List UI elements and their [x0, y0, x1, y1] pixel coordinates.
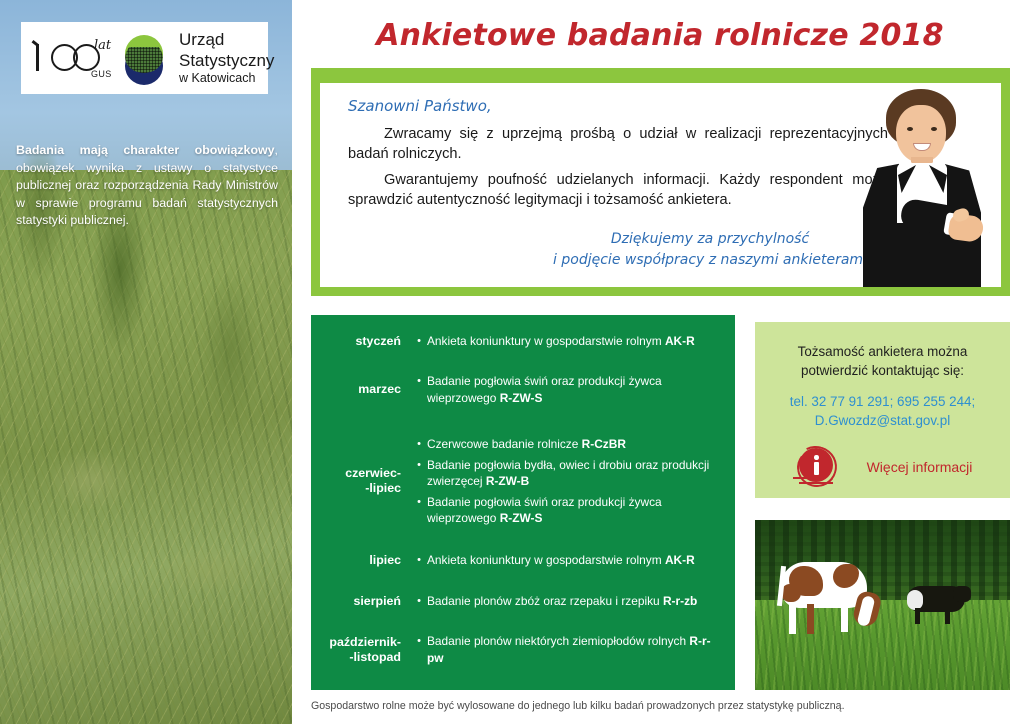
- letter-closing: Dziękujemy za przychylność i podjęcie ws…: [530, 229, 890, 271]
- list-item: • Czerwcowe badanie rolnicze R-CzBR: [411, 436, 727, 452]
- page-title: Ankietowe badania rolnicze 2018: [310, 18, 1010, 53]
- office-line-2: w Katowicach: [179, 71, 274, 87]
- schedule-item-text: Badanie plonów niektórych ziemiopłodów r…: [427, 633, 727, 666]
- survey-code: R-CzBR: [582, 437, 626, 451]
- bullet-icon: •: [411, 373, 427, 406]
- letter-box: Szanowni Państwo, Zwracamy się z uprzejm…: [311, 74, 1010, 296]
- schedule-item-text: Badanie plonów zbóż oraz rzepaku i rzepi…: [427, 593, 697, 609]
- table-row: sierpień • Badanie plonów zbóż oraz rzep…: [315, 589, 727, 613]
- bullet-icon: •: [411, 333, 427, 349]
- bullet-icon: •: [411, 552, 427, 568]
- schedule-items: • Ankieta koniunktury w gospodarstwie ro…: [411, 548, 727, 572]
- survey-schedule-table: styczeń • Ankieta koniunktury w gospodar…: [311, 315, 735, 690]
- list-item: • Badanie pogłowia świń oraz produkcji ż…: [411, 494, 727, 527]
- bullet-icon: •: [411, 494, 427, 527]
- mandatory-notice-bold: Badania mają charakter obowiązkowy: [16, 143, 275, 157]
- surveyor-photo: [841, 83, 1001, 287]
- contact-email[interactable]: D.Gwozdz@stat.gov.pl: [769, 411, 996, 430]
- schedule-item-text: Ankieta koniunktury w gospodarstwie roln…: [427, 333, 695, 349]
- schedule-month-line-2: -lipiec: [315, 481, 401, 496]
- contact-title-line-1: Tożsamość ankietera można: [769, 342, 996, 361]
- schedule-month: lipiec: [315, 553, 411, 568]
- logo-gus-label: GUS: [91, 69, 112, 79]
- poster-root: lat GUS Urząd Statystyczny w Katowicach …: [0, 0, 1024, 724]
- logo-lat-label: lat: [94, 38, 111, 53]
- schedule-item-text: Badanie pogłowia świń oraz produkcji żyw…: [427, 373, 727, 406]
- schedule-month-line-1: październik-: [315, 635, 401, 650]
- letter-closing-line-1: Dziękujemy za przychylność: [530, 229, 890, 250]
- schedule-item-text: Badanie pogłowia bydła, owiec i drobiu o…: [427, 457, 727, 490]
- mandatory-notice: Badania mają charakter obowiązkowy, obow…: [16, 142, 278, 230]
- survey-code: R-ZW-S: [500, 511, 543, 525]
- table-row: marzec • Badanie pogłowia świń oraz prod…: [315, 369, 727, 410]
- schedule-item-text: Badanie pogłowia świń oraz produkcji żyw…: [427, 494, 727, 527]
- cow-pasture-photo: [755, 520, 1010, 690]
- schedule-item-text: Ankieta koniunktury w gospodarstwie roln…: [427, 552, 695, 568]
- bullet-icon: •: [411, 457, 427, 490]
- letter-paragraph-1: Zwracamy się z uprzejmą prośbą o udział …: [348, 125, 888, 164]
- sidebar-wheat-panel: lat GUS Urząd Statystyczny w Katowicach …: [0, 0, 292, 724]
- survey-code: AK-R: [665, 334, 695, 348]
- schedule-month-line-2: -listopad: [315, 650, 401, 665]
- bullet-icon: •: [411, 593, 427, 609]
- list-item: • Ankieta koniunktury w gospodarstwie ro…: [411, 333, 727, 349]
- letter-closing-line-2: i podjęcie współpracy z naszymi ankieter…: [530, 250, 890, 271]
- schedule-items: • Badanie plonów niektórych ziemiopłodów…: [411, 629, 727, 670]
- survey-code: R-r-zb: [663, 594, 697, 608]
- schedule-month: październik- -listopad: [315, 635, 411, 665]
- bullet-icon: •: [411, 633, 427, 666]
- table-row: styczeń • Ankieta koniunktury w gospodar…: [315, 329, 727, 353]
- more-info-row[interactable]: Więcej informacji: [769, 446, 996, 488]
- letter-paragraph-2: Gwarantujemy poufność udzielanych inform…: [348, 171, 888, 210]
- gus-logo-card: lat GUS Urząd Statystyczny w Katowicach: [21, 22, 268, 94]
- list-item: • Ankieta koniunktury w gospodarstwie ro…: [411, 552, 727, 568]
- schedule-item-text: Czerwcowe badanie rolnicze R-CzBR: [427, 436, 626, 452]
- stat-office-circles-icon: [123, 33, 167, 83]
- list-item: • Badanie plonów zbóż oraz rzepaku i rze…: [411, 593, 727, 609]
- centenary-100-logo-icon: lat GUS: [33, 36, 119, 80]
- schedule-items: • Badanie plonów zbóż oraz rzepaku i rze…: [411, 589, 727, 613]
- schedule-month: styczeń: [315, 334, 411, 349]
- list-item: • Badanie pogłowia bydła, owiec i drobiu…: [411, 457, 727, 490]
- contact-title: Tożsamość ankietera można potwierdzić ko…: [769, 342, 996, 380]
- schedule-month: marzec: [315, 382, 411, 397]
- schedule-month: czerwiec- -lipiec: [315, 466, 411, 496]
- table-row: październik- -listopad • Badanie plonów …: [315, 629, 727, 670]
- contact-phone[interactable]: tel. 32 77 91 291; 695 255 244;: [769, 392, 996, 411]
- schedule-month-line-1: czerwiec-: [315, 466, 401, 481]
- schedule-month: sierpień: [315, 594, 411, 609]
- survey-code: AK-R: [665, 553, 695, 567]
- footer-note: Gospodarstwo rolne może być wylosowane d…: [311, 700, 1011, 712]
- stat-office-name: Urząd Statystyczny w Katowicach: [179, 29, 274, 87]
- table-row: lipiec • Ankieta koniunktury w gospodars…: [315, 548, 727, 572]
- survey-code: R-ZW-B: [486, 711, 529, 724]
- table-row: czerwiec- -lipiec • Czerwcowe badanie ro…: [315, 432, 727, 530]
- contact-box: Tożsamość ankietera można potwierdzić ko…: [755, 322, 1010, 498]
- survey-code: R-ZW-S: [500, 391, 543, 405]
- schedule-items: • Ankieta koniunktury w gospodarstwie ro…: [411, 329, 727, 353]
- bullet-icon: •: [411, 436, 427, 452]
- more-info-link[interactable]: Więcej informacji: [867, 459, 973, 475]
- schedule-items: • Czerwcowe badanie rolnicze R-CzBR • Ba…: [411, 432, 727, 530]
- survey-code: R-ZW-B: [486, 474, 529, 488]
- schedule-items: • Badanie pogłowia świń oraz produkcji ż…: [411, 369, 727, 410]
- contact-title-line-2: potwierdzić kontaktując się:: [769, 361, 996, 380]
- office-line-1: Urząd Statystyczny: [179, 29, 274, 72]
- info-icon[interactable]: [793, 446, 843, 488]
- list-item: • Badanie pogłowia świń oraz produkcji ż…: [411, 373, 727, 406]
- wheat-ears: [0, 150, 292, 724]
- list-item: • Badanie plonów niektórych ziemiopłodów…: [411, 633, 727, 666]
- contact-details: tel. 32 77 91 291; 695 255 244; D.Gwozdz…: [769, 392, 996, 430]
